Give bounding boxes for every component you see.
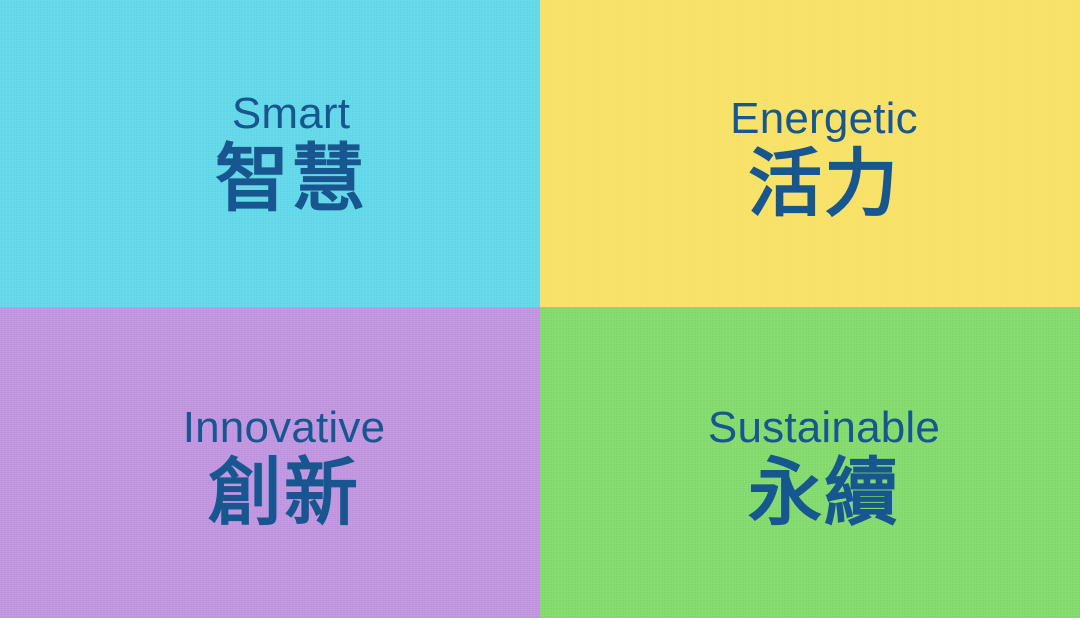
quadrant-innovative[interactable]: Innovative 創新 xyxy=(0,307,540,618)
quadrant-energetic[interactable]: Energetic 活力 xyxy=(540,0,1080,307)
quadrant-sustainable[interactable]: Sustainable 永續 xyxy=(540,307,1080,618)
label-zh-innovative: 創新 xyxy=(208,456,360,531)
text-block-sustainable: Sustainable 永續 xyxy=(708,406,940,531)
text-block-energetic: Energetic 活力 xyxy=(730,97,918,222)
value-grid: Smart 智慧 Energetic 活力 Innovative 創新 Sust… xyxy=(0,0,1080,618)
text-block-innovative: Innovative 創新 xyxy=(183,406,386,531)
label-en-innovative: Innovative xyxy=(183,406,386,450)
label-en-smart: Smart xyxy=(232,92,350,136)
text-block-smart: Smart 智慧 xyxy=(215,92,367,217)
quadrant-smart[interactable]: Smart 智慧 xyxy=(0,0,540,307)
label-zh-smart: 智慧 xyxy=(215,142,367,217)
label-zh-sustainable: 永續 xyxy=(748,456,900,531)
label-en-sustainable: Sustainable xyxy=(708,406,940,450)
label-en-energetic: Energetic xyxy=(730,97,918,141)
label-zh-energetic: 活力 xyxy=(748,147,900,222)
